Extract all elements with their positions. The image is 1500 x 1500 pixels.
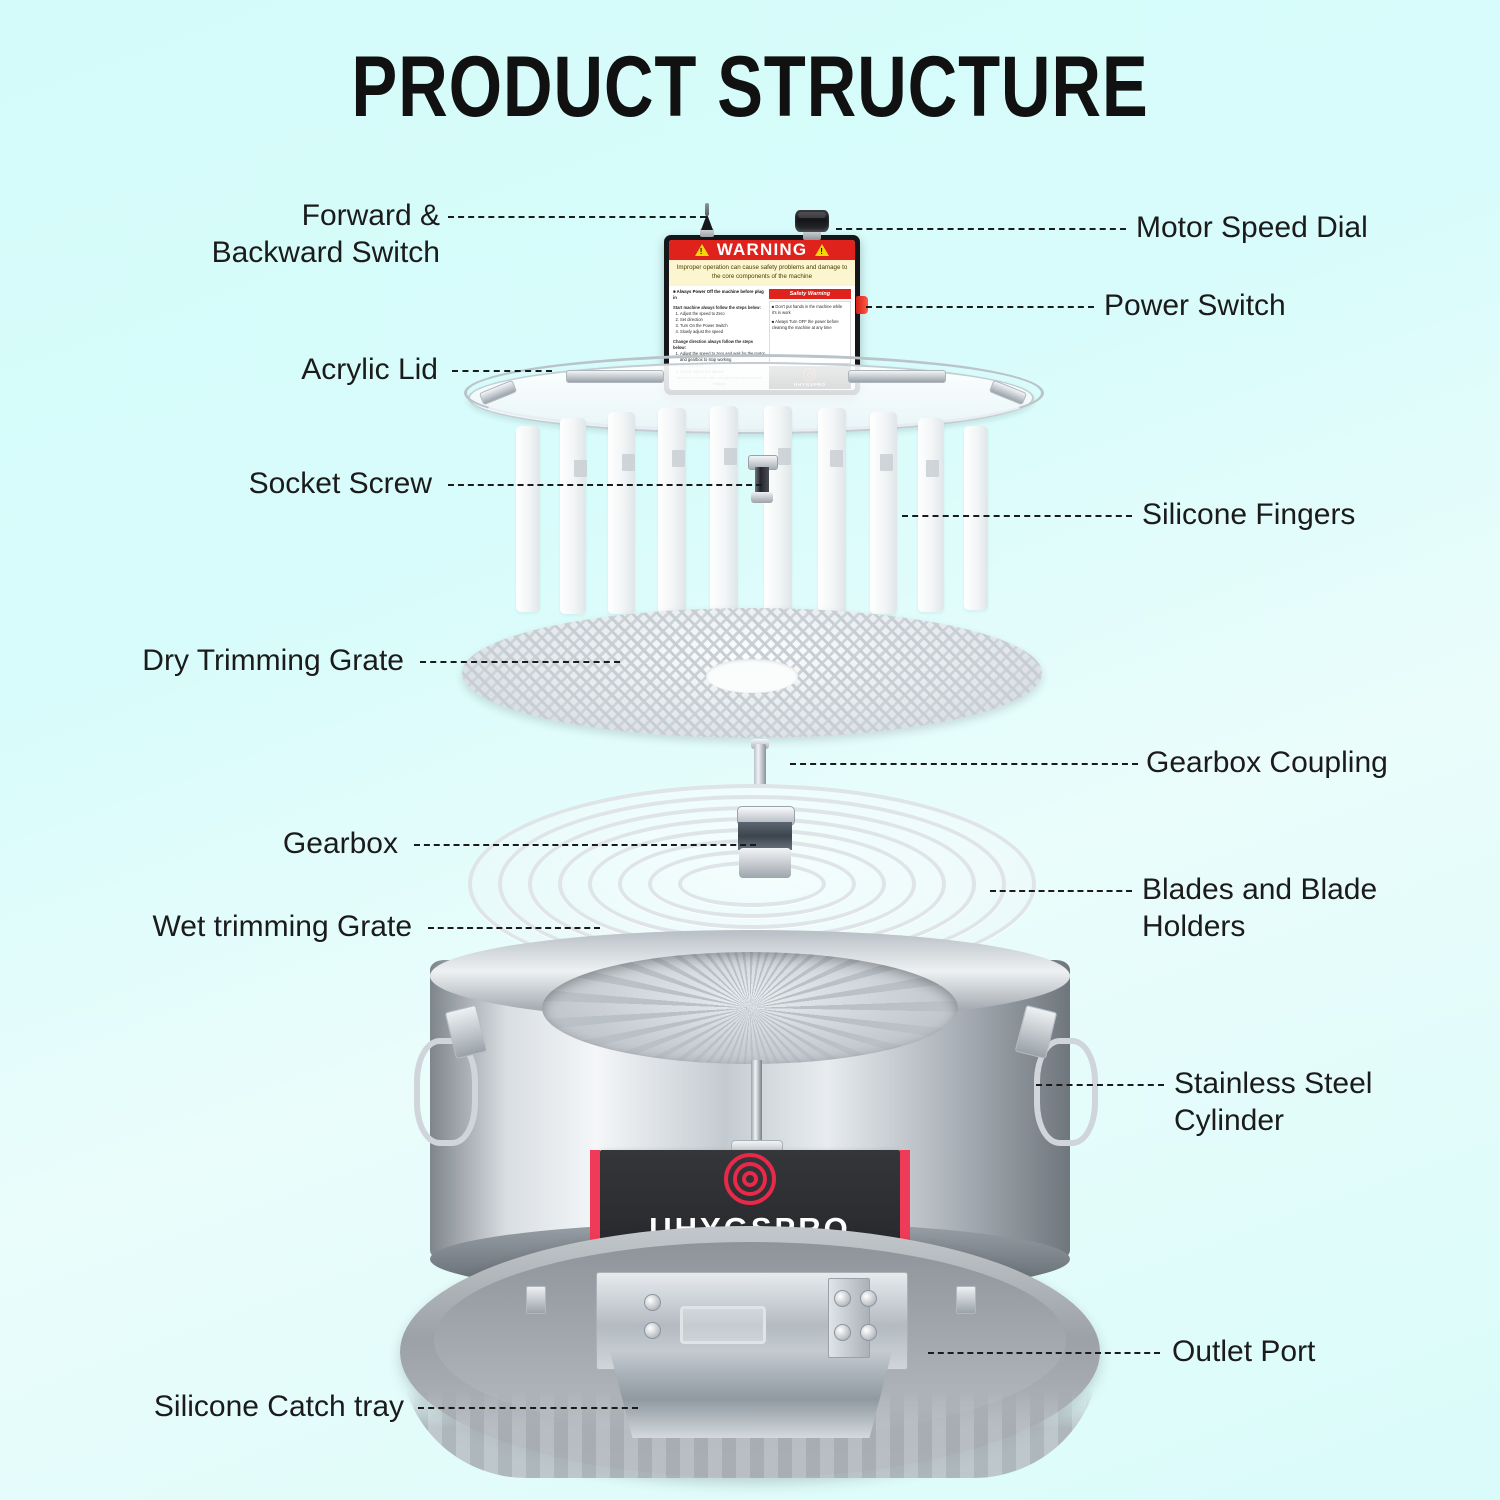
outlet-clasp[interactable] (680, 1306, 766, 1344)
leader-silicone-catch-tray (418, 1407, 638, 1409)
outlet-port[interactable] (596, 1272, 906, 1442)
safety-warning-item: Don't put hands in the machine while it'… (772, 304, 848, 317)
outlet-chute (610, 1352, 892, 1438)
callout-acrylic-lid: Acrylic Lid (80, 352, 438, 389)
finger-clip (672, 450, 685, 467)
safety-warning-item: Always Turn OFF the power before cleanin… (772, 319, 848, 332)
outlet-bolt (834, 1290, 851, 1307)
socket-screw (748, 455, 776, 503)
finger-clip (574, 460, 587, 477)
leader-acrylic-lid (452, 370, 552, 372)
dry-trimming-grate (462, 608, 1042, 738)
coupling-shaft (754, 744, 766, 786)
callout-silicone-fingers: Silicone Fingers (1142, 497, 1492, 534)
screw-shank (755, 467, 769, 493)
leader-outlet-port (928, 1352, 1160, 1354)
power-switch[interactable] (856, 296, 868, 314)
leader-dry-trimming-grate (420, 661, 620, 663)
grate-center-hole (706, 659, 798, 693)
cylinder-mesh-floor (542, 952, 958, 1064)
lid-hinge (848, 370, 946, 383)
warning-notice: Always Power Off the machine before plug… (673, 289, 766, 302)
silicone-finger (764, 406, 792, 614)
warning-triangle-icon (695, 244, 709, 256)
motor-speed-dial[interactable] (795, 210, 829, 240)
silicone-finger (870, 412, 897, 614)
leader-motor-speed-dial (836, 228, 1126, 230)
page-title: PRODUCT STRUCTURE (150, 38, 1350, 137)
warning-header: WARNING (669, 240, 855, 260)
screw-foot (751, 492, 773, 503)
callout-power-switch: Power Switch (1104, 288, 1454, 325)
leader-forward-backward-switch (448, 216, 706, 218)
callout-stainless-steel-cylinder: Stainless Steel Cylinder (1174, 1066, 1494, 1139)
leader-stainless-steel-cylinder (1036, 1084, 1164, 1086)
warning-triangle-icon (815, 244, 829, 256)
dial-base (803, 231, 821, 240)
warning-step: Slowly adjust the speed (680, 329, 766, 335)
spiral-logo-icon (724, 1153, 776, 1205)
outlet-bolt (834, 1324, 851, 1341)
callout-silicone-catch-tray: Silicone Catch tray (60, 1389, 404, 1426)
callout-blades-and-blade-holders: Blades and Blade Holders (1142, 872, 1472, 945)
outlet-bolt (860, 1290, 877, 1307)
forward-backward-switch[interactable] (700, 203, 714, 237)
finger-clip (830, 450, 843, 467)
switch-lever (705, 203, 709, 216)
callout-wet-trimming-grate: Wet trimming Grate (60, 909, 412, 946)
leader-socket-screw (448, 484, 762, 486)
leader-silicone-fingers (902, 515, 1132, 517)
leader-power-switch (866, 306, 1094, 308)
finger-clip (622, 454, 635, 471)
outlet-bolt (860, 1324, 877, 1341)
warning-subheading: Improper operation can cause safety prob… (669, 260, 855, 286)
tray-tab (956, 1286, 976, 1314)
silicone-finger (818, 408, 846, 614)
callout-outlet-port: Outlet Port (1172, 1334, 1492, 1371)
silicone-finger (710, 406, 738, 614)
finger-clip (880, 454, 893, 471)
finger-clip (926, 460, 939, 477)
warning-change-heading: Change direction always follow the steps… (673, 339, 753, 350)
spindle-rod (751, 1060, 762, 1144)
tray-tab (526, 1286, 546, 1314)
silicone-finger (658, 408, 686, 614)
finger-clip (778, 448, 791, 465)
callout-socket-screw: Socket Screw (80, 466, 432, 503)
gearbox (737, 806, 793, 880)
callout-motor-speed-dial: Motor Speed Dial (1136, 210, 1486, 247)
warning-start-heading: Start machine always follow the steps be… (673, 305, 761, 310)
callout-gearbox-coupling: Gearbox Coupling (1146, 745, 1496, 782)
silicone-finger (964, 426, 988, 610)
gearbox-bottom (739, 848, 791, 878)
dial-knob (795, 210, 829, 232)
leader-gearbox (414, 844, 756, 846)
callout-dry-trimming-grate: Dry Trimming Grate (60, 643, 404, 680)
callout-gearbox: Gearbox (60, 826, 398, 863)
warning-header-text: WARNING (717, 240, 808, 260)
warning-start-steps: Adjust the speed to Zero Set direction T… (673, 311, 766, 336)
leader-blades-and-blade-holders (990, 890, 1132, 892)
leader-wet-trimming-grate (428, 927, 600, 929)
leader-gearbox-coupling (790, 763, 1138, 765)
finger-clip (724, 448, 737, 465)
silicone-finger (608, 412, 635, 614)
silicone-finger (560, 418, 586, 614)
callout-forward-backward-switch: Forward & Backward Switch (80, 198, 440, 271)
outlet-bolt (644, 1294, 661, 1311)
diagram-stage: PRODUCT STRUCTURE WARNING Improper opera… (0, 0, 1500, 1500)
safety-warning-title: Safety Warning (769, 289, 851, 299)
silicone-finger (516, 426, 540, 612)
outlet-bolt (644, 1322, 661, 1339)
lid-hinge (566, 370, 664, 383)
